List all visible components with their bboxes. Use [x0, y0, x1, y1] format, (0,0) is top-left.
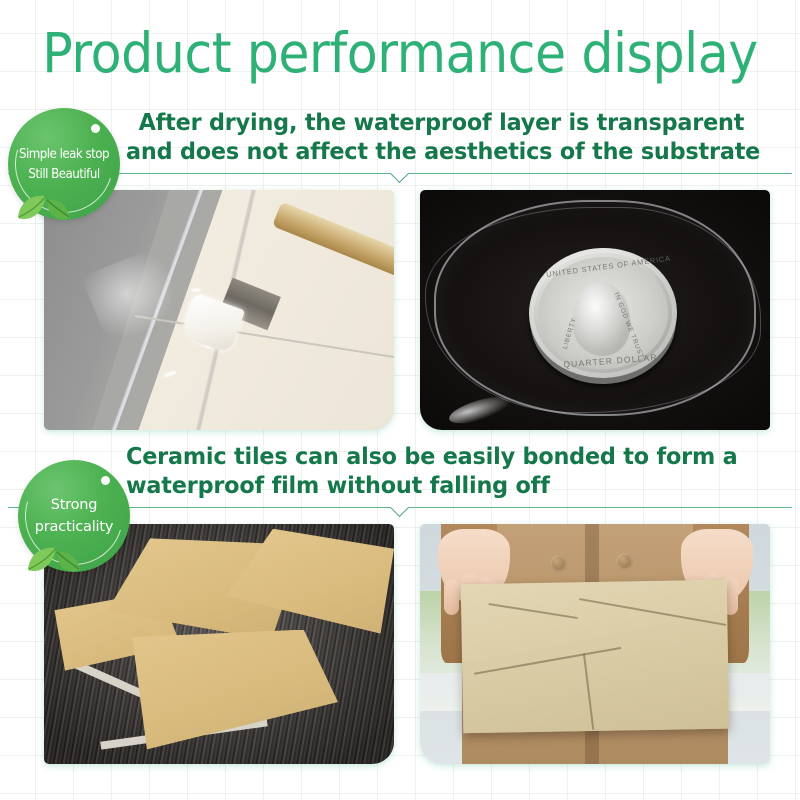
coat-button: [550, 555, 567, 572]
coat-button: [616, 553, 633, 570]
section-1-divider: [8, 173, 792, 187]
photo-coin-on-transparent-film-alt: United States quarter dollar coin restin…: [420, 190, 421, 191]
chevron-down-icon: [389, 507, 411, 518]
section-1-headline-line-2: and does not affect the aesthetics of th…: [126, 137, 757, 166]
badge-dot-icon: [101, 476, 110, 485]
film-highlight-smear: [447, 392, 516, 429]
photo-person-holding-bonded-tile-alt: Person in a camel coat holding up a crac…: [420, 524, 421, 525]
badge-1-line-2: Still Beautiful: [18, 164, 110, 184]
badge-simple-leak-stop: Simple leak stop Still Beautiful: [8, 108, 120, 220]
section-1-headline: After drying, the waterproof layer is tr…: [126, 108, 757, 166]
section-2-headline-line-2: waterproof film without falling off: [126, 471, 757, 500]
badge-1-text: Simple leak stop Still Beautiful: [15, 144, 114, 184]
badge-2-line-2: practicality: [22, 516, 126, 538]
section-2-headline: Ceramic tiles can also be easily bonded …: [126, 442, 757, 500]
bonded-tile: [461, 579, 730, 732]
badge-strong-practicality: Strong practicality: [18, 460, 130, 572]
section-1-headline-line-1: After drying, the waterproof layer is tr…: [126, 108, 757, 137]
photo-coin-on-transparent-film: UNITED STATES OF AMERICA QUARTER DOLLAR …: [420, 190, 770, 430]
badge-2-text: Strong practicality: [18, 494, 130, 538]
photo-brush-sealing-tile-grout: Brush applying transparent waterproof co…: [44, 190, 394, 430]
tile-crack: [579, 597, 726, 624]
section-2-headline-line-1: Ceramic tiles can also be easily bonded …: [126, 442, 757, 471]
leaf-icon: [16, 192, 74, 226]
photo-person-holding-bonded-tile: Person in a camel coat holding up a crac…: [420, 524, 770, 764]
leaf-icon: [26, 544, 84, 578]
badge-dot-icon: [91, 124, 100, 133]
tile-crack: [583, 653, 594, 730]
chevron-down-icon: [389, 173, 411, 184]
product-performance-poster: Product performance display After drying…: [0, 0, 800, 800]
badge-1-line-1: Simple leak stop: [18, 144, 110, 164]
page-title: Product performance display: [32, 22, 768, 84]
section-2-photo-row: Beige ceramic tile broken into four piec…: [44, 524, 770, 764]
tile-crack: [474, 647, 621, 674]
tile-crack: [488, 602, 578, 618]
section-1-photo-row: Brush applying transparent waterproof co…: [44, 190, 770, 430]
badge-2-line-1: Strong: [22, 494, 126, 516]
